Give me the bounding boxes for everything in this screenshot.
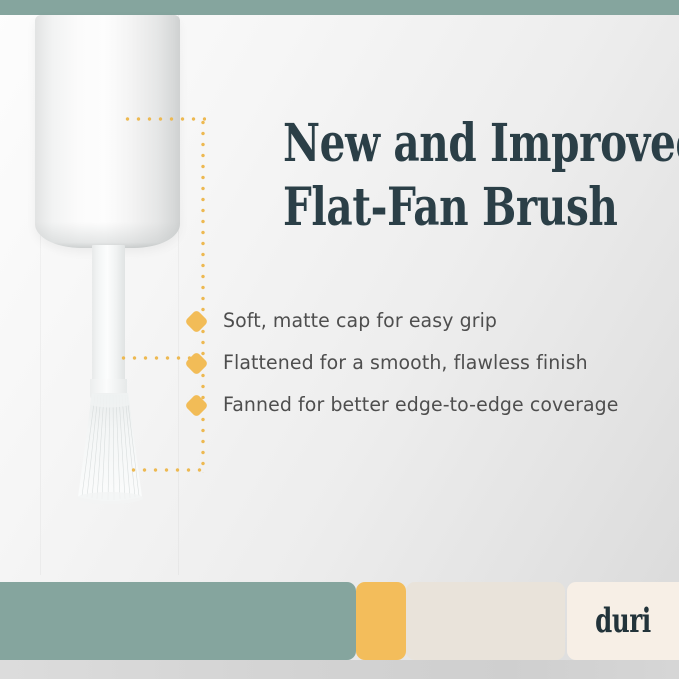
diamond-bullet-icon xyxy=(184,351,208,375)
connector-dotted-line-top xyxy=(122,117,206,121)
product-photo-flat-fan-brush xyxy=(0,15,230,515)
headline-line-1: New and Improved xyxy=(283,112,579,176)
top-accent-strip xyxy=(0,0,679,15)
headline-line-2: Flat-Fan Brush xyxy=(283,176,579,240)
promotional-banner: New and Improved Flat-Fan Brush Soft, ma… xyxy=(0,0,679,679)
feature-bullet-text: Soft, matte cap for easy grip xyxy=(223,309,645,333)
diamond-bullet-icon xyxy=(184,309,208,333)
feature-bullet-text: Flattened for a smooth, flawless finish xyxy=(223,351,645,375)
feature-bullet-text: Fanned for better edge-to-edge coverage xyxy=(223,393,645,417)
bottom-bar-segment-cream xyxy=(406,582,565,660)
brush-stem xyxy=(92,245,125,393)
bottom-bar-segment-gold xyxy=(356,582,406,660)
feature-bullet-item: Soft, matte cap for easy grip xyxy=(188,300,658,342)
headline: New and Improved Flat-Fan Brush xyxy=(283,112,579,240)
bottom-color-bar xyxy=(0,582,679,660)
bristles-icon xyxy=(70,393,150,505)
brand-logo: duri xyxy=(583,582,664,660)
brush-bristles xyxy=(70,393,150,505)
feature-bullet-item: Fanned for better edge-to-edge coverage xyxy=(188,384,658,426)
brush-cap xyxy=(35,15,180,248)
bottom-edge-strip xyxy=(0,660,679,679)
feature-bullet-item: Flattened for a smooth, flawless finish xyxy=(188,342,658,384)
connector-dotted-line-bottom xyxy=(128,468,205,472)
feature-bullet-list: Soft, matte cap for easy grip Flattened … xyxy=(188,300,658,426)
diamond-bullet-icon xyxy=(184,393,208,417)
bottom-bar-segment-teal xyxy=(0,582,356,660)
